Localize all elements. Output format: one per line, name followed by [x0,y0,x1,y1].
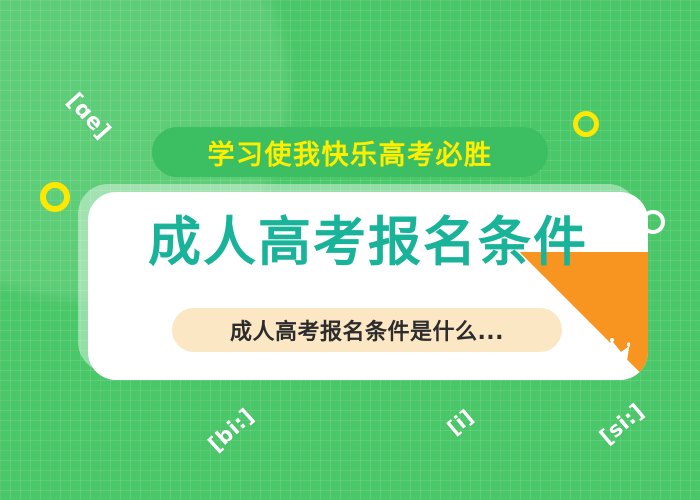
phonetic-label-3: [i] [442,404,478,440]
top-banner-text: 学习使我快乐高考必胜 [208,133,493,172]
ring-yellow-left [40,182,70,212]
top-banner: 学习使我快乐高考必胜 [152,127,548,177]
page-title: 成人高考报名条件 [88,216,648,269]
crown-icon [594,338,630,366]
poster-canvas: [ɑe] [bi:] [i] [si:] 学习使我快乐高考必胜 成人高考报名条件… [0,0,700,500]
phonetic-label-2: [bi:] [204,404,259,457]
ring-yellow-top [573,111,599,137]
main-card: 成人高考报名条件 成人高考报名条件是什么... [88,192,648,380]
phonetic-label-4: [si:] [595,399,649,449]
subtitle-pill: 成人高考报名条件是什么... [172,308,562,352]
subtitle-text: 成人高考报名条件是什么... [230,314,504,346]
